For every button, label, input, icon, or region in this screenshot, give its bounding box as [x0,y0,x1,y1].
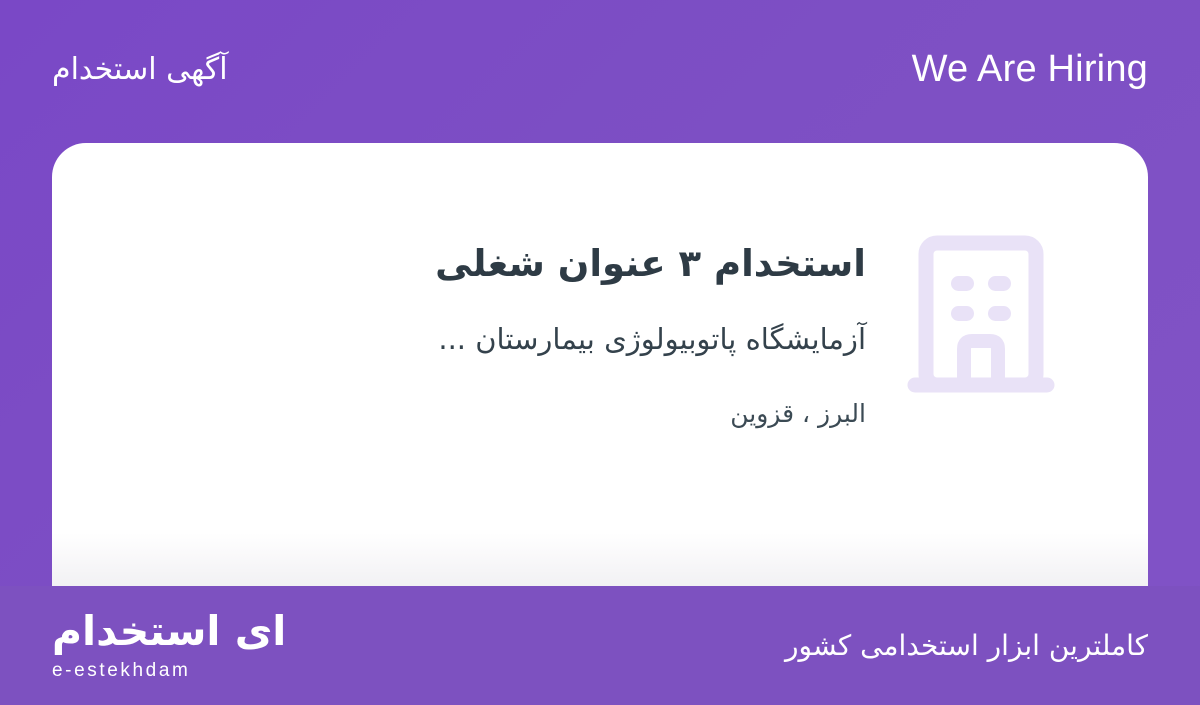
poster-header: We Are Hiring آگهی استخدام [0,0,1200,143]
company-logo-placeholder [866,215,1096,401]
footer-slogan: کاملترین ابزار استخدامی کشور [785,632,1148,660]
hiring-headline-english: We Are Hiring [912,50,1148,88]
hiring-headline-persian: آگهی استخدام [52,55,228,85]
job-card: استخدام ۳ عنوان شغلی آزمایشگاه پاتوبیولو… [52,143,1148,586]
brand-logo: ای استخدام e-estekhdam [52,611,286,680]
poster-footer: کاملترین ابزار استخدامی کشور ای استخدام … [0,586,1200,705]
brand-wordmark-persian: ای استخدام [52,611,286,652]
job-details: استخدام ۳ عنوان شغلی آزمایشگاه پاتوبیولو… [92,215,866,430]
job-location: البرز ، قزوین [92,398,866,431]
job-title: استخدام ۳ عنوان شغلی [92,239,866,289]
company-name: آزمایشگاه پاتوبیولوژی بیمارستان ... [92,319,866,360]
building-icon [906,231,1056,401]
job-ad-poster: We Are Hiring آگهی استخدام استخدام ۳ عنو… [0,0,1200,705]
brand-wordmark-latin: e-estekhdam [52,661,190,680]
